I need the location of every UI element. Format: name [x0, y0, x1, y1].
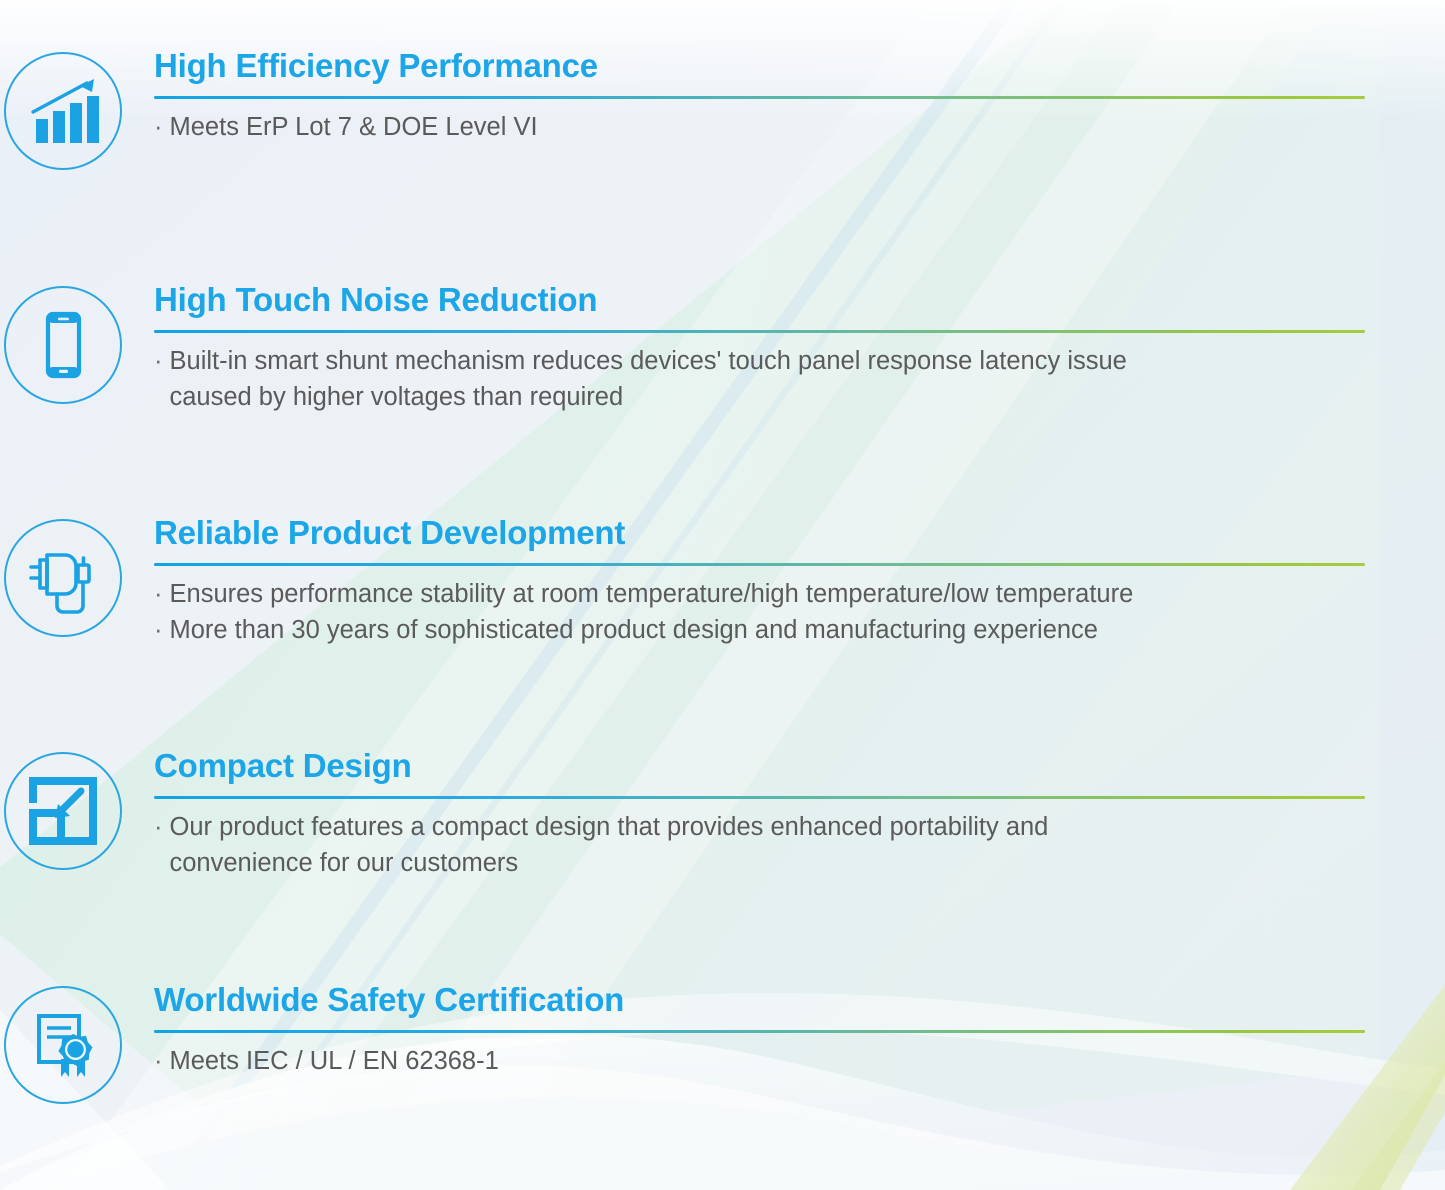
bullet-text: Our product features a compact design th… [170, 809, 1049, 881]
feature-bullets: · Our product features a compact design … [154, 809, 1365, 881]
feature-row: Reliable Product Development · Ensures p… [0, 515, 1445, 648]
bullet-marker: · [154, 1043, 163, 1079]
bullet-marker: · [154, 809, 163, 845]
feature-icon-wrapper [0, 982, 125, 1104]
bullet-line: caused by higher voltages than required [170, 379, 1127, 415]
compact-resize-icon [4, 752, 122, 870]
bullet-line: Meets ErP Lot 7 & DOE Level VI [170, 109, 538, 145]
feature-bullets: · Ensures performance stability at room … [154, 576, 1365, 648]
bullet-item: · Our product features a compact design … [154, 809, 1365, 881]
bullet-text: Built-in smart shunt mechanism reduces d… [170, 343, 1127, 415]
bullet-item: · More than 30 years of sophisticated pr… [154, 612, 1365, 648]
feature-title: Reliable Product Development [154, 515, 1365, 551]
feature-title: Compact Design [154, 748, 1365, 784]
feature-content: Reliable Product Development · Ensures p… [125, 515, 1445, 648]
feature-row: Compact Design · Our product features a … [0, 748, 1445, 881]
feature-row: High Efficiency Performance · Meets ErP … [0, 48, 1445, 170]
power-adapter-icon [4, 519, 122, 637]
feature-title: Worldwide Safety Certification [154, 982, 1365, 1018]
feature-content: High Efficiency Performance · Meets ErP … [125, 48, 1445, 145]
feature-bullets: · Meets IEC / UL / EN 62368-1 [154, 1043, 1365, 1079]
feature-title: High Touch Noise Reduction [154, 282, 1365, 318]
bullet-item: · Meets ErP Lot 7 & DOE Level VI [154, 109, 1365, 145]
certificate-award-icon [4, 986, 122, 1104]
feature-content: Worldwide Safety Certification · Meets I… [125, 982, 1445, 1079]
bullet-item: · Ensures performance stability at room … [154, 576, 1365, 612]
feature-icon-wrapper [0, 48, 125, 170]
bullet-marker: · [154, 576, 163, 612]
bullet-text: Ensures performance stability at room te… [170, 576, 1134, 612]
bullet-marker: · [154, 109, 163, 145]
feature-icon-wrapper [0, 515, 125, 637]
bullet-line: convenience for our customers [170, 845, 1049, 881]
bullet-item: · Meets IEC / UL / EN 62368-1 [154, 1043, 1365, 1079]
bullet-marker: · [154, 343, 163, 379]
feature-bullets: · Meets ErP Lot 7 & DOE Level VI [154, 109, 1365, 145]
bullet-line: Built-in smart shunt mechanism reduces d… [170, 343, 1127, 379]
feature-title: High Efficiency Performance [154, 48, 1365, 84]
bullet-text: Meets ErP Lot 7 & DOE Level VI [170, 109, 538, 145]
bar-chart-growth-icon [4, 52, 122, 170]
feature-divider [154, 563, 1365, 566]
feature-bullets: · Built-in smart shunt mechanism reduces… [154, 343, 1365, 415]
feature-divider [154, 1030, 1365, 1033]
feature-row: Worldwide Safety Certification · Meets I… [0, 982, 1445, 1104]
bullet-text: More than 30 years of sophisticated prod… [170, 612, 1098, 648]
feature-content: High Touch Noise Reduction · Built-in sm… [125, 282, 1445, 415]
bullet-marker: · [154, 612, 163, 648]
feature-divider [154, 796, 1365, 799]
bullet-line: Ensures performance stability at room te… [170, 576, 1134, 612]
smartphone-icon [4, 286, 122, 404]
feature-row: High Touch Noise Reduction · Built-in sm… [0, 282, 1445, 415]
feature-divider [154, 330, 1365, 333]
bullet-line: More than 30 years of sophisticated prod… [170, 612, 1098, 648]
feature-divider [154, 96, 1365, 99]
bullet-text: Meets IEC / UL / EN 62368-1 [170, 1043, 499, 1079]
feature-icon-wrapper [0, 282, 125, 404]
feature-content: Compact Design · Our product features a … [125, 748, 1445, 881]
bullet-item: · Built-in smart shunt mechanism reduces… [154, 343, 1365, 415]
feature-icon-wrapper [0, 748, 125, 870]
bullet-line: Our product features a compact design th… [170, 809, 1049, 845]
bullet-line: Meets IEC / UL / EN 62368-1 [170, 1043, 499, 1079]
